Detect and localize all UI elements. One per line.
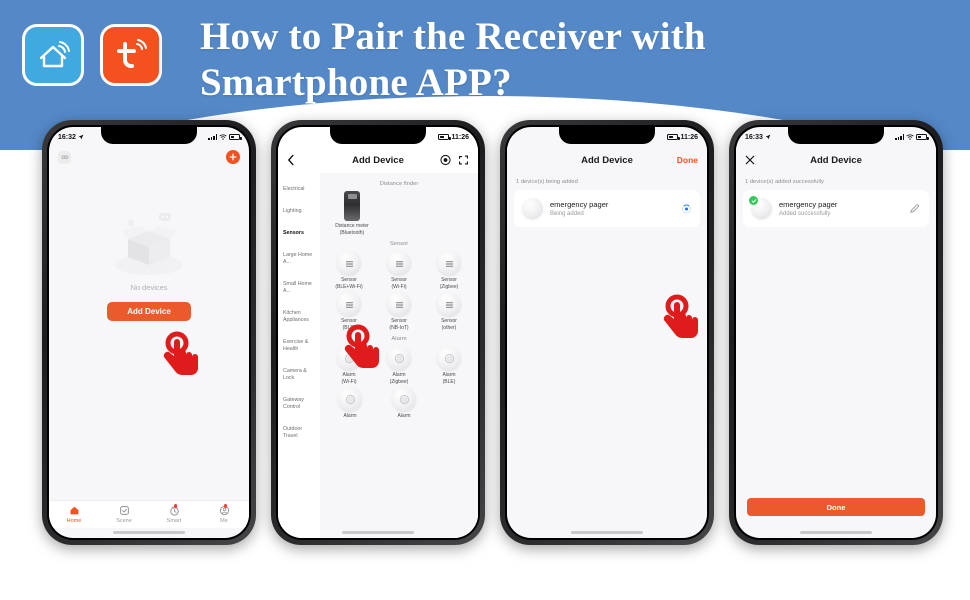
phone2-title: Add Device <box>352 155 404 166</box>
category-sensors[interactable]: Sensors <box>278 222 320 244</box>
battery-icon <box>229 134 240 140</box>
distance-finder-row: Distance meter (Bluetooth) <box>324 191 474 236</box>
home-icon <box>69 505 80 516</box>
hand-pointer-cursor <box>657 292 707 344</box>
device-name: Alarm <box>397 413 410 420</box>
wifi-icon <box>219 134 227 140</box>
tab-home-label: Home <box>67 518 82 524</box>
add-device-button[interactable]: Add Device <box>107 302 191 321</box>
sensor-wave-icon <box>387 292 411 316</box>
location-arrow-icon <box>765 134 771 140</box>
phone4-hint-text: 1 device(s) added successfully <box>736 173 936 190</box>
phone3-hint-text: 1 device(s) being added <box>507 173 707 190</box>
phone3-screen: 11:26 Add Device Done 1 device(s) being … <box>507 127 707 538</box>
smart-badge-dot <box>174 504 178 508</box>
check-circle-icon <box>749 196 758 205</box>
page-title-line2: Smartphone APP? <box>200 60 900 106</box>
device-name: Sensor <box>441 318 457 325</box>
section-title-sensor: Sensor <box>324 241 474 247</box>
device-name: Alarm <box>390 372 409 379</box>
scan-target-icon[interactable] <box>440 155 451 166</box>
tab-me[interactable]: Me <box>199 505 249 524</box>
chevron-left-icon <box>287 155 295 166</box>
hand-pointer-cursor <box>157 329 209 381</box>
signal-bars-icon <box>895 134 904 140</box>
category-small-home-appliances[interactable]: Small Home A... <box>278 273 320 302</box>
category-lighting[interactable]: Lighting <box>278 200 320 222</box>
device-name: Sensor <box>389 318 408 325</box>
status-time: 11:26 <box>680 134 698 141</box>
device-sub: (BLE+Wi-Fi) <box>335 284 362 291</box>
notch <box>559 127 655 144</box>
brand-icon-group <box>22 24 162 86</box>
alarm-ring-icon <box>392 387 416 411</box>
status-time: 11:26 <box>451 134 469 141</box>
phone1-tab-bar: Home Scene Smart Me <box>49 500 249 528</box>
device-sensor-wifi[interactable]: Sensor(Wi-Fi) <box>377 251 421 290</box>
alarm-ring-icon <box>437 346 461 370</box>
device-name: Sensor <box>440 277 459 284</box>
device-sensor-other[interactable]: Sensor(other) <box>427 292 471 331</box>
pencil-edit-icon[interactable] <box>909 204 919 214</box>
qr-scan-frame-icon[interactable] <box>458 155 469 166</box>
scene-check-icon <box>119 505 130 516</box>
home-switch-icon[interactable] <box>58 151 71 164</box>
device-card-adding[interactable]: emergency pager Being added <box>514 190 700 227</box>
device-sub: (Zigbee) <box>390 379 409 386</box>
battery-icon <box>916 134 927 140</box>
category-gateway-control[interactable]: Gateway Control <box>278 389 320 418</box>
phone1-screen: 16:32 <box>49 127 249 538</box>
sensor-wave-icon <box>437 251 461 275</box>
tuya-icon <box>100 24 162 86</box>
close-button[interactable] <box>745 155 755 165</box>
sensor-wave-icon <box>437 292 461 316</box>
device-alarm-4[interactable]: Alarm <box>328 387 372 420</box>
category-outdoor-travel[interactable]: Outdoor Travel <box>278 418 320 447</box>
notch <box>330 127 426 144</box>
device-sub: (Bluetooth) <box>335 230 369 237</box>
status-time: 16:32 <box>58 134 76 141</box>
category-exercise-health[interactable]: Exercise & Health <box>278 331 320 360</box>
home-indicator <box>571 531 643 534</box>
home-indicator <box>800 531 872 534</box>
smart-life-icon <box>22 24 84 86</box>
home-indicator <box>342 531 414 534</box>
empty-box-illustration <box>106 205 192 277</box>
notch <box>101 127 197 144</box>
tab-me-label: Me <box>220 518 228 524</box>
device-thumb-icon <box>522 198 543 219</box>
notch <box>788 127 884 144</box>
tab-smart[interactable]: Smart <box>149 505 199 524</box>
page-title: How to Pair the Receiver with Smartphone… <box>200 14 900 106</box>
device-name: Alarm <box>442 372 455 379</box>
phone4-title: Add Device <box>810 155 862 166</box>
device-status: Added successfully <box>779 211 837 217</box>
device-sub: (NB-IoT) <box>389 325 408 332</box>
signal-bars-icon <box>208 134 217 140</box>
device-sub: (BLE) <box>442 379 455 386</box>
location-arrow-icon <box>78 134 84 140</box>
phone2-app-bar: Add Device <box>278 147 478 173</box>
me-badge-dot <box>224 504 228 508</box>
device-name: Alarm <box>343 413 356 420</box>
empty-state: No devices Add Device <box>49 205 249 321</box>
device-distance-meter[interactable]: Distance meter (Bluetooth) <box>330 191 374 236</box>
battery-icon <box>438 134 449 140</box>
status-time: 16:33 <box>745 134 763 141</box>
tab-smart-label: Smart <box>167 518 182 524</box>
section-title-distance-finder: Distance finder <box>324 181 474 187</box>
tab-home[interactable]: Home <box>49 505 99 524</box>
phone-mockup-2: 11:26 Add Device Electrical Lighting Sen… <box>271 120 485 545</box>
category-camera-lock[interactable]: Camera & Lock <box>278 360 320 389</box>
device-thumb-icon <box>751 198 772 219</box>
sensor-wave-icon <box>337 292 361 316</box>
wifi-icon <box>906 134 914 140</box>
phone-mockup-4: 16:33 Add Device 1 device(s) added succe… <box>729 120 943 545</box>
battery-icon <box>667 134 678 140</box>
device-status: Being added <box>550 211 608 217</box>
back-button[interactable] <box>287 155 295 166</box>
device-name: Distance meter <box>335 223 369 230</box>
tab-scene-label: Scene <box>116 518 132 524</box>
category-electrical[interactable]: Electrical <box>278 178 320 200</box>
page-title-line1: How to Pair the Receiver with <box>200 14 900 60</box>
empty-state-text: No devices <box>130 283 167 292</box>
phone-mockup-1: 16:32 <box>42 120 256 545</box>
alarm-ring-icon <box>387 346 411 370</box>
alarm-ring-icon <box>338 387 362 411</box>
device-name: Sensor <box>391 277 407 284</box>
tab-scene[interactable]: Scene <box>99 505 149 524</box>
sensor-row-1: Sensor(BLE+Wi-Fi) Sensor(Wi-Fi) Sensor(Z… <box>324 251 474 290</box>
device-sub: (Zigbee) <box>440 284 459 291</box>
category-sidebar: Electrical Lighting Sensors Large Home A… <box>278 173 320 538</box>
loading-spinner-icon <box>682 204 691 213</box>
phone-mockup-3: 11:26 Add Device Done 1 device(s) being … <box>500 120 714 545</box>
device-sensor-zigbee[interactable]: Sensor(Zigbee) <box>427 251 471 290</box>
phone1-toolbar <box>49 147 249 164</box>
done-link[interactable]: Done <box>677 155 698 165</box>
device-sub: (other) <box>441 325 457 332</box>
close-x-icon <box>745 155 755 165</box>
category-large-home-appliances[interactable]: Large Home A... <box>278 244 320 273</box>
device-alarm-ble[interactable]: Alarm(BLE) <box>427 346 471 385</box>
hand-pointer-cursor <box>338 322 390 374</box>
device-name: emergency pager <box>550 200 608 209</box>
device-sub: (Wi-Fi) <box>391 284 407 291</box>
device-sub: (Wi-Fi) <box>342 379 357 386</box>
phone3-title: Add Device <box>581 155 633 166</box>
home-indicator <box>113 531 185 534</box>
distance-meter-icon <box>344 191 360 221</box>
alarm-row-2: Alarm Alarm <box>324 387 474 420</box>
device-name: emergency pager <box>779 200 837 209</box>
phone4-screen: 16:33 Add Device 1 device(s) added succe… <box>736 127 936 538</box>
device-alarm-5[interactable]: Alarm <box>382 387 426 420</box>
device-card-added[interactable]: emergency pager Added successfully <box>743 190 929 227</box>
device-sensor-ble-wifi[interactable]: Sensor(BLE+Wi-Fi) <box>327 251 371 290</box>
category-kitchen-appliances[interactable]: Kitchen Appliances <box>278 302 320 331</box>
phone2-screen: 11:26 Add Device Electrical Lighting Sen… <box>278 127 478 538</box>
add-button[interactable] <box>226 150 240 164</box>
phone4-app-bar: Add Device <box>736 147 936 173</box>
sensor-wave-icon <box>337 251 361 275</box>
done-button[interactable]: Done <box>747 498 925 516</box>
sensor-wave-icon <box>387 251 411 275</box>
phone3-app-bar: Add Device Done <box>507 147 707 173</box>
